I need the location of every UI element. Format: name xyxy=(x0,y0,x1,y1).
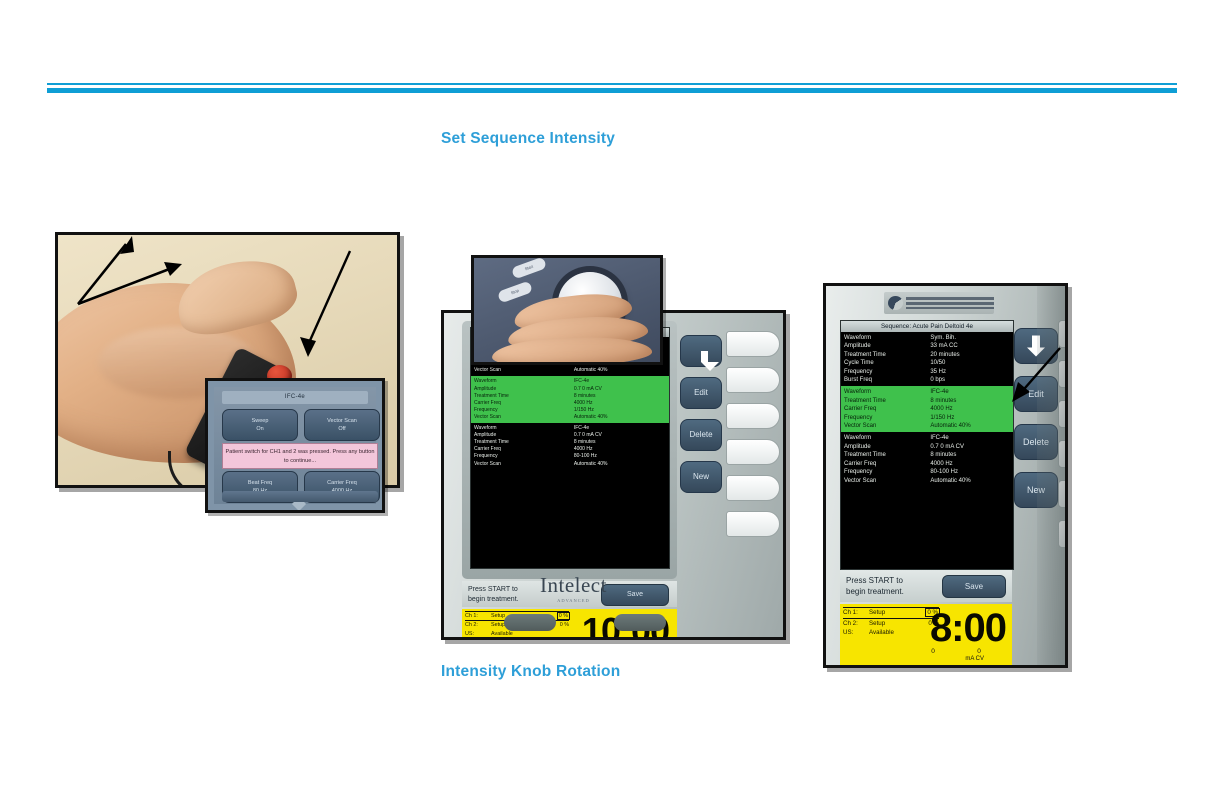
parameter-key: Amplitude xyxy=(844,443,930,451)
parameter-blocks: WaveformSym. Bih.Amplitude33 mA CCTreatm… xyxy=(841,332,1013,487)
parameter-row: Frequency80-100 Hz xyxy=(844,468,1010,476)
parameter-row: Vector ScanAutomatic 40% xyxy=(474,414,666,421)
right-device-photo: Sequence: Acute Pain Deltoid 4e Waveform… xyxy=(823,283,1068,668)
channel-state: Available xyxy=(491,630,543,638)
parameter-block[interactable]: WaveformIFC-4eAmplitude0.7 0 mA CVTreatm… xyxy=(471,423,669,470)
channel-label: Ch 2: xyxy=(465,621,491,629)
parameter-value: 4000 Hz xyxy=(930,460,1010,468)
amplitude-right: 0 xyxy=(977,648,981,655)
parameter-value: 80-100 Hz xyxy=(574,453,666,460)
parameter-row: Burst Freq0 bps xyxy=(844,376,1010,384)
hardware-key[interactable] xyxy=(726,367,780,393)
parameter-block[interactable]: WaveformSym. Bih.Amplitude33 mA CCTreatm… xyxy=(841,332,1013,386)
channel-label: US: xyxy=(465,630,491,638)
dialog-alert-message: Patient switch for CH1 and 2 was pressed… xyxy=(222,443,378,469)
parameter-row: Frequency1/150 Hz xyxy=(474,407,666,414)
parameter-key: Frequency xyxy=(844,414,930,422)
parameter-row: Amplitude0.7 0 mA CV xyxy=(474,432,666,439)
parameter-key: Waveform xyxy=(844,388,930,396)
dialog-button-sweep-label: Sweep xyxy=(252,417,269,425)
parameter-key: Waveform xyxy=(474,425,574,432)
save-button[interactable]: Save xyxy=(601,584,669,606)
dialog-button-beat-freq-label: Beat Freq xyxy=(248,479,272,487)
parameter-value: 8 minutes xyxy=(930,451,1010,459)
new-button[interactable]: New xyxy=(680,461,722,493)
treatment-timer: 8:00 xyxy=(930,608,1006,648)
press-start-text: Press START tobegin treatment. xyxy=(468,585,519,605)
hardware-key[interactable] xyxy=(726,403,780,429)
device-brand-sub: ADVANCED xyxy=(540,598,607,603)
parameter-row: Carrier Freq4000 Hz xyxy=(474,400,666,407)
parameter-value: 10/50 xyxy=(930,359,1010,367)
channel-label: Ch 2: xyxy=(843,619,869,629)
channel-status-row[interactable]: US:Available xyxy=(843,628,939,638)
pointer-arrows-to-timer-icon xyxy=(64,218,194,308)
parameter-key: Vector Scan xyxy=(474,461,574,468)
screen-side-buttons: Edit Delete New xyxy=(680,335,724,503)
parameter-key: Frequency xyxy=(844,368,930,376)
parameter-key: Carrier Freq xyxy=(474,446,574,453)
parameter-value: IFC-4e xyxy=(930,388,1010,396)
amplitude-unit: mA CV xyxy=(965,656,984,662)
dialog-footer-bar xyxy=(222,491,378,502)
parameter-value: Automatic 40% xyxy=(574,461,666,468)
channel-status-list: Ch 1:Setup0 %Ch 2:Setup0 %US:Available xyxy=(843,607,939,638)
press-start-text: Press START tobegin treatment. xyxy=(846,575,904,597)
parameter-key: Vector Scan xyxy=(474,367,574,374)
parameter-row: Carrier Freq4000 Hz xyxy=(844,405,1010,413)
parameter-value: 8 minutes xyxy=(574,393,666,400)
page-title: Set Sequence Intensity xyxy=(441,130,615,148)
dialog-button-sweep[interactable]: Sweep On xyxy=(222,409,298,441)
parameter-row: Treatment Time8 minutes xyxy=(474,439,666,446)
parameter-key: Cycle Time xyxy=(844,359,930,367)
parameter-value: 0.7 0 mA CV xyxy=(574,386,666,393)
parameter-value: Sym. Bih. xyxy=(930,334,1010,342)
parameter-key: Burst Freq xyxy=(844,376,930,384)
parameter-value: Automatic 40% xyxy=(574,367,666,374)
parameter-key: Carrier Freq xyxy=(844,460,930,468)
parameter-value: 35 Hz xyxy=(930,368,1010,376)
parameter-row: WaveformIFC-4e xyxy=(844,434,1010,442)
parameter-row: Frequency1/150 Hz xyxy=(844,414,1010,422)
parameter-value: Automatic 40% xyxy=(574,414,666,421)
dialog-button-vector-scan-label: Vector Scan xyxy=(327,417,357,425)
parameter-row: Treatment Time20 minutes xyxy=(844,351,1010,359)
hardware-key[interactable] xyxy=(726,511,780,537)
parameter-key: Treatment Time xyxy=(844,451,930,459)
dialog-surface: IFC-4e Sweep On Vector Scan Off Patient … xyxy=(214,387,376,504)
parameter-key: Treatment Time xyxy=(474,393,574,400)
parameter-key: Amplitude xyxy=(474,386,574,393)
parameter-value: Automatic 40% xyxy=(930,477,1010,485)
intensity-knob-photo: Start Stop xyxy=(471,255,663,365)
press-start-area: Press START tobegin treatment. Save xyxy=(840,570,1012,602)
parameter-key: Waveform xyxy=(844,334,930,342)
parameter-value: 1/150 Hz xyxy=(574,407,666,414)
parameter-row: Carrier Freq4000 Hz xyxy=(474,446,666,453)
status-timer-panel: Ch 1:Setup0 %Ch 2:Setup0 %US:Available 8… xyxy=(840,604,1012,668)
parameter-value: 80-100 Hz xyxy=(930,468,1010,476)
parameter-row: WaveformSym. Bih. xyxy=(844,334,1010,342)
parameter-row: Amplitude0.7 0 mA CV xyxy=(844,443,1010,451)
parameter-row: Cycle Time10/50 xyxy=(844,359,1010,367)
parameter-key: Amplitude xyxy=(474,432,574,439)
dialog-button-vector-scan-value: Off xyxy=(338,425,345,433)
parameter-row: Frequency35 Hz xyxy=(844,368,1010,376)
parameter-key: Amplitude xyxy=(844,342,930,350)
parameter-key: Carrier Freq xyxy=(844,405,930,413)
parameter-key: Treatment Time xyxy=(844,397,930,405)
parameter-key: Vector Scan xyxy=(844,477,930,485)
parameter-value: 0.7 0 mA CV xyxy=(574,432,666,439)
parameter-value: IFC-4e xyxy=(574,378,666,385)
hardware-key[interactable] xyxy=(726,475,780,501)
parameter-row: Carrier Freq4000 Hz xyxy=(844,460,1010,468)
manufacturer-logo xyxy=(884,292,994,314)
parameter-row: Vector ScanAutomatic 40% xyxy=(844,422,1010,430)
dialog-button-carrier-freq-label: Carrier Freq xyxy=(327,479,357,487)
parameter-key: Treatment Time xyxy=(844,351,930,359)
housing-shadow xyxy=(1037,286,1065,665)
channel-label: Ch 1: xyxy=(465,612,491,620)
parameter-row: Amplitude33 mA CC xyxy=(844,342,1010,350)
parameter-value: 0 bps xyxy=(930,376,1010,384)
footer-button-left[interactable] xyxy=(504,614,556,631)
channel-state: Available xyxy=(869,628,915,638)
parameter-value: 20 minutes xyxy=(930,351,1010,359)
ifc-dialog-inset: IFC-4e Sweep On Vector Scan Off Patient … xyxy=(205,378,385,513)
parameter-row: Vector ScanAutomatic 40% xyxy=(474,367,666,374)
parameter-key: Waveform xyxy=(844,434,930,442)
channel-status-row[interactable]: US:Available xyxy=(465,630,569,638)
channel-state: Setup xyxy=(869,608,915,618)
parameter-row: WaveformIFC-4e xyxy=(474,378,666,385)
parameter-key: Frequency xyxy=(844,468,930,476)
parameter-row: Amplitude0.7 0 mA CV xyxy=(474,386,666,393)
parameter-value: 8 minutes xyxy=(574,439,666,446)
parameter-value: 4000 Hz xyxy=(574,446,666,453)
hardware-key[interactable] xyxy=(726,331,780,357)
logo-mark-icon xyxy=(888,296,903,310)
slide-root: Set Sequence Intensity Intensity Knob Ro… xyxy=(0,0,1224,792)
header-rule-thick xyxy=(47,88,1177,93)
edit-button[interactable]: Edit xyxy=(680,377,722,409)
logo-wordmark xyxy=(906,297,994,309)
hardware-key[interactable] xyxy=(726,439,780,465)
screen-header: Sequence: Acute Pain Deltoid 4e xyxy=(841,321,1013,332)
parameter-value: 8 minutes xyxy=(930,397,1010,405)
dialog-title: IFC-4e xyxy=(222,391,368,404)
parameter-row: Treatment Time8 minutes xyxy=(844,451,1010,459)
channel-label: US: xyxy=(843,628,869,638)
parameter-key: Frequency xyxy=(474,453,574,460)
channel-state: Setup xyxy=(869,619,915,629)
parameter-value: Automatic 40% xyxy=(930,422,1010,430)
parameter-block-selected[interactable]: WaveformIFC-4eAmplitude0.7 0 mA CVTreatm… xyxy=(471,376,669,423)
amplitude-left: 0 xyxy=(931,648,935,655)
device-brand-name: Intelect xyxy=(540,573,607,597)
channel-value xyxy=(543,630,569,638)
parameter-value: 4000 Hz xyxy=(930,405,1010,413)
parameter-block-selected[interactable]: WaveformIFC-4eTreatment Time8 minutesCar… xyxy=(841,386,1013,432)
parameter-row: Vector ScanAutomatic 40% xyxy=(474,461,666,468)
parameter-value: 0.7 0 mA CV xyxy=(930,443,1010,451)
pointer-arrow-icon xyxy=(1002,344,1068,406)
parameter-key: Waveform xyxy=(474,378,574,385)
delete-button[interactable]: Delete xyxy=(680,419,722,451)
parameter-value: 4000 Hz xyxy=(574,400,666,407)
parameter-block[interactable]: WaveformIFC-4eAmplitude0.7 0 mA CVTreatm… xyxy=(841,432,1013,486)
dialog-button-sweep-value: On xyxy=(256,425,263,433)
pointer-arrow-icon xyxy=(286,245,366,365)
parameter-value: 1/150 Hz xyxy=(930,414,1010,422)
dialog-button-vector-scan[interactable]: Vector Scan Off xyxy=(304,409,380,441)
parameter-row: WaveformIFC-4e xyxy=(474,425,666,432)
channel-status-row[interactable]: Ch 1:Setup0 % xyxy=(843,607,939,619)
parameter-key: Treatment Time xyxy=(474,439,574,446)
channel-status-row[interactable]: Ch 2:Setup0 % xyxy=(843,619,939,629)
channel-label: Ch 1: xyxy=(843,608,869,618)
parameter-value: IFC-4e xyxy=(930,434,1010,442)
header-rule-thin xyxy=(47,83,1177,85)
page-caption: Intensity Knob Rotation xyxy=(441,663,620,681)
parameter-key: Frequency xyxy=(474,407,574,414)
footer-button-right[interactable] xyxy=(614,614,666,631)
parameter-row: WaveformIFC-4e xyxy=(844,388,1010,396)
device-brand: Intelect ADVANCED xyxy=(540,573,607,603)
device-screen: Sequence: Acute Pain Deltoid 4e Waveform… xyxy=(840,320,1014,570)
parameter-row: Treatment Time8 minutes xyxy=(474,393,666,400)
parameter-key: Vector Scan xyxy=(844,422,930,430)
parameter-key: Carrier Freq xyxy=(474,400,574,407)
scroll-down-button[interactable] xyxy=(680,335,722,367)
parameter-key: Vector Scan xyxy=(474,414,574,421)
parameter-row: Treatment Time8 minutes xyxy=(844,397,1010,405)
parameter-value: IFC-4e xyxy=(574,425,666,432)
parameter-value: 33 mA CC xyxy=(930,342,1010,350)
hardware-key-column xyxy=(726,331,784,547)
save-button[interactable]: Save xyxy=(942,575,1006,598)
parameter-row: Vector ScanAutomatic 40% xyxy=(844,477,1010,485)
amplitude-readouts: 0 0 xyxy=(910,648,1002,655)
parameter-row: Frequency80-100 Hz xyxy=(474,453,666,460)
